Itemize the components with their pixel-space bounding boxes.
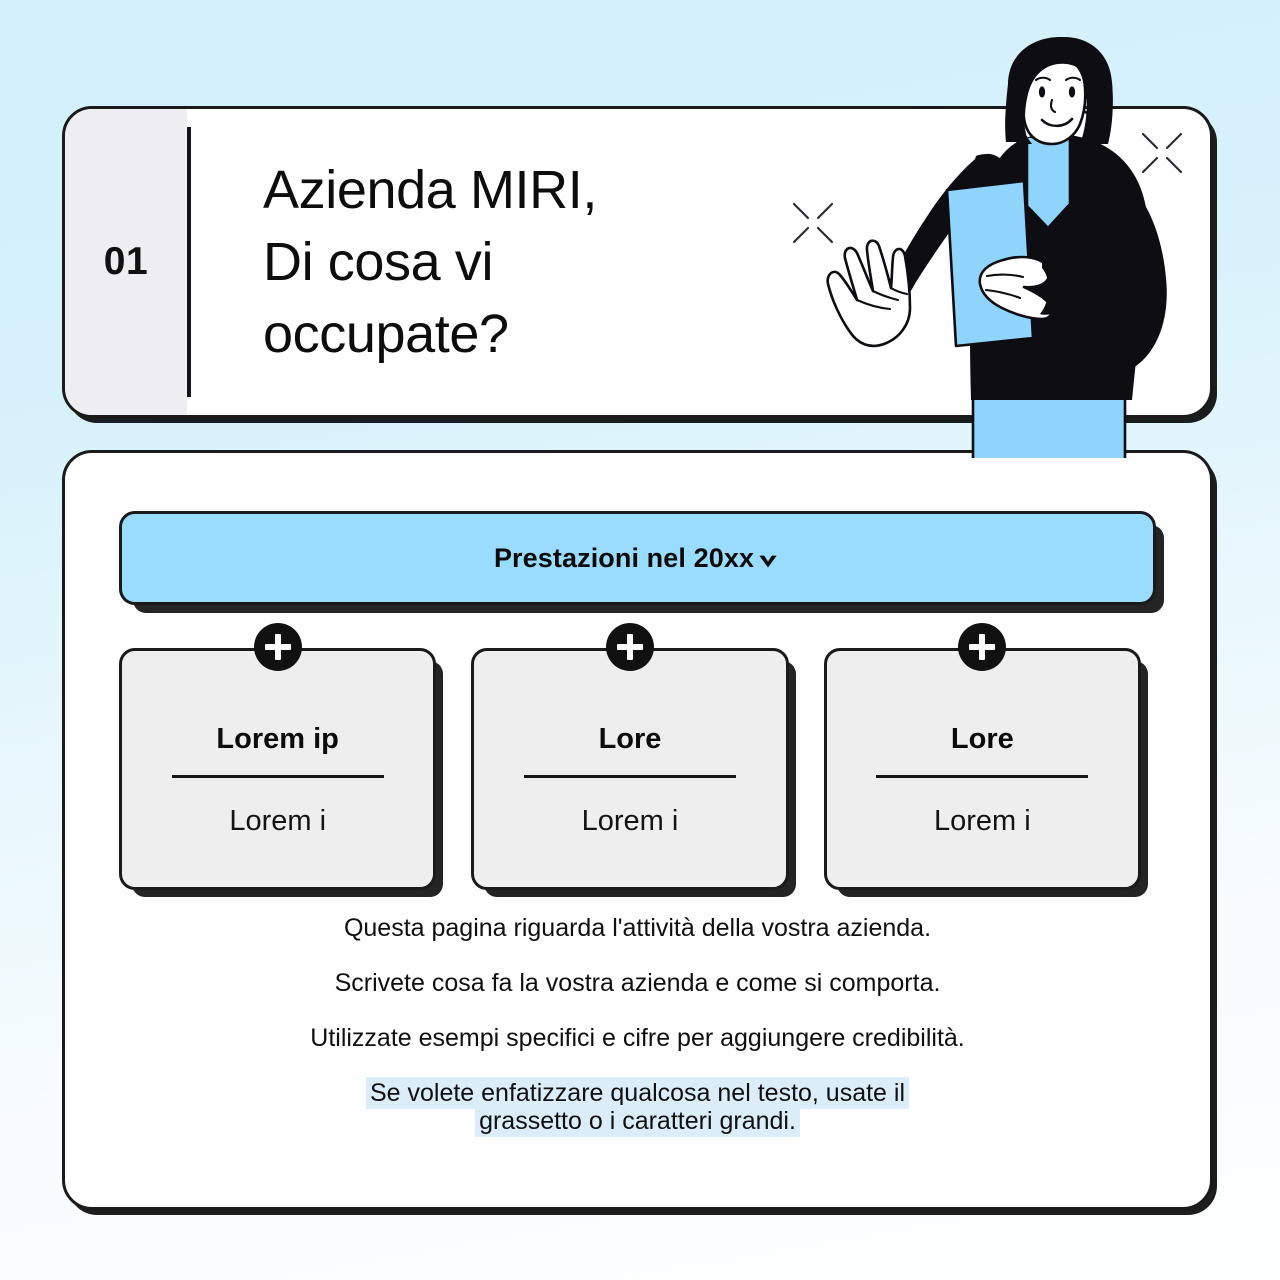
body-paragraph: Utilizzate esempi specifici e cifre per … — [119, 1024, 1156, 1052]
stat-card-title: Lore — [951, 723, 1014, 756]
body-paragraph-text: Scrivete cosa fa la vostra azienda e com… — [335, 969, 941, 997]
stat-card-row: Lorem ip Lorem i Lore Lorem i Lore — [119, 648, 1156, 890]
stat-card-rule — [524, 775, 736, 778]
performance-banner-text: Prestazioni nel 20xx — [494, 543, 754, 574]
stat-card-subtitle: Lorem i — [582, 805, 679, 838]
body-paragraph: Questa pagina riguarda l'attività della … — [119, 914, 1156, 942]
slide-canvas: 01 Azienda MIRI, Di cosa vi occupate? Pr… — [0, 0, 1280, 1280]
highlighted-text: Se volete enfatizzare qualcosa nel testo… — [366, 1077, 909, 1137]
stat-card[interactable]: Lorem ip Lorem i — [119, 648, 436, 890]
page-title: Azienda MIRI, Di cosa vi occupate? — [191, 109, 1210, 415]
sparkle-x-icon — [790, 200, 836, 251]
body-paragraph-highlighted: Se volete enfatizzare qualcosa nel testo… — [318, 1079, 958, 1135]
stat-card[interactable]: Lore Lorem i — [471, 648, 788, 890]
performance-banner[interactable]: Prestazioni nel 20xx — [119, 511, 1156, 605]
plus-icon[interactable] — [606, 623, 654, 671]
page-title-line-1: Azienda MIRI, — [263, 161, 1210, 219]
stat-card-title: Lore — [599, 723, 662, 756]
performance-banner-label: Prestazioni nel 20xx — [494, 543, 781, 574]
stat-card-subtitle: Lorem i — [934, 805, 1031, 838]
stat-card[interactable]: Lore Lorem i — [824, 648, 1141, 890]
stat-card-rule — [172, 775, 384, 778]
page-title-line-2: Di cosa vi — [263, 233, 1210, 291]
body-paragraph-text: Utilizzate esempi specifici e cifre per … — [310, 1024, 964, 1052]
body-copy: Questa pagina riguarda l'attività della … — [119, 914, 1156, 1135]
step-number: 01 — [104, 240, 148, 284]
body-paragraph-text: Questa pagina riguarda l'attività della … — [344, 914, 931, 942]
chevron-down-icon[interactable] — [755, 548, 781, 574]
stat-card-title: Lorem ip — [216, 723, 338, 756]
sparkle-x-icon — [1139, 130, 1185, 181]
page-title-line-3: occupate? — [263, 305, 1210, 363]
stat-card-subtitle: Lorem i — [229, 805, 326, 838]
stat-card-rule — [876, 775, 1088, 778]
content-card: Prestazioni nel 20xx Lorem ip Lorem i — [62, 450, 1213, 1210]
plus-icon[interactable] — [254, 623, 302, 671]
plus-icon[interactable] — [958, 623, 1006, 671]
step-number-panel: 01 — [65, 109, 187, 415]
header-card: 01 Azienda MIRI, Di cosa vi occupate? — [62, 106, 1213, 418]
body-paragraph: Scrivete cosa fa la vostra azienda e com… — [119, 969, 1156, 997]
